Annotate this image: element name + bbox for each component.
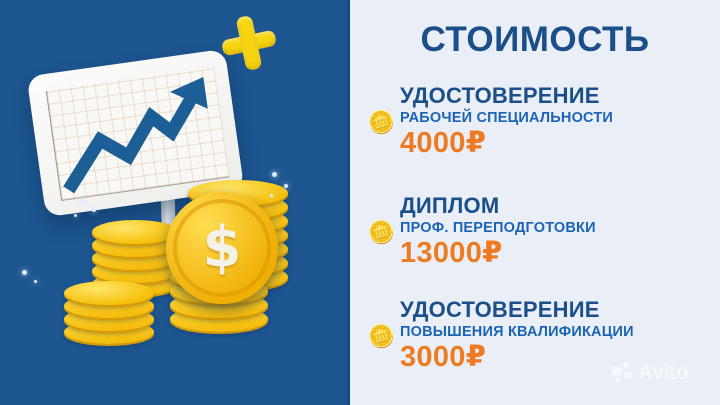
price-block: 🪙 УДОСТОВЕРЕНИЕ РАБОЧЕЙ СПЕЦИАЛЬНОСТИ 40…: [362, 84, 714, 160]
price-value: 4000₽: [400, 128, 714, 160]
avito-dots-logo-icon: [612, 362, 633, 383]
illustration-panel: $: [0, 0, 350, 405]
price-subtitle: ПРОФ. ПЕРЕПОДГОТОВКИ: [400, 219, 714, 237]
gold-coin-stacks-icon: $: [62, 168, 322, 343]
coin-icon: 🪙: [365, 217, 398, 250]
dollar-coin-icon: $: [166, 192, 278, 304]
page-title: СТОИМОСТЬ: [374, 20, 696, 60]
coin-icon: 🪙: [365, 321, 398, 354]
price-headline: ДИПЛОМ: [400, 194, 714, 217]
coin-icon: 🪙: [365, 107, 398, 140]
avito-wordmark: Avito: [638, 362, 688, 383]
price-block: 🪙 ДИПЛОМ ПРОФ. ПЕРЕПОДГОТОВКИ 13000₽: [362, 194, 714, 270]
dollar-symbol: $: [203, 220, 242, 276]
poster-canvas: $ СТОИМОСТЬ 🪙: [0, 0, 720, 405]
price-subtitle: РАБОЧЕЙ СПЕЦИАЛЬНОСТИ: [400, 109, 714, 127]
price-value: 13000₽: [400, 238, 714, 270]
price-headline: УДОСТОВЕРЕНИЕ: [400, 84, 714, 107]
avito-watermark: Avito: [612, 362, 688, 383]
price-headline: УДОСТОВЕРЕНИЕ: [400, 298, 714, 321]
pricing-panel: СТОИМОСТЬ 🪙 УДОСТОВЕРЕНИЕ РАБОЧЕЙ СПЕЦИА…: [350, 0, 720, 405]
price-subtitle: ПОВЫШЕНИЯ КВАЛИФИКАЦИИ: [400, 323, 714, 341]
